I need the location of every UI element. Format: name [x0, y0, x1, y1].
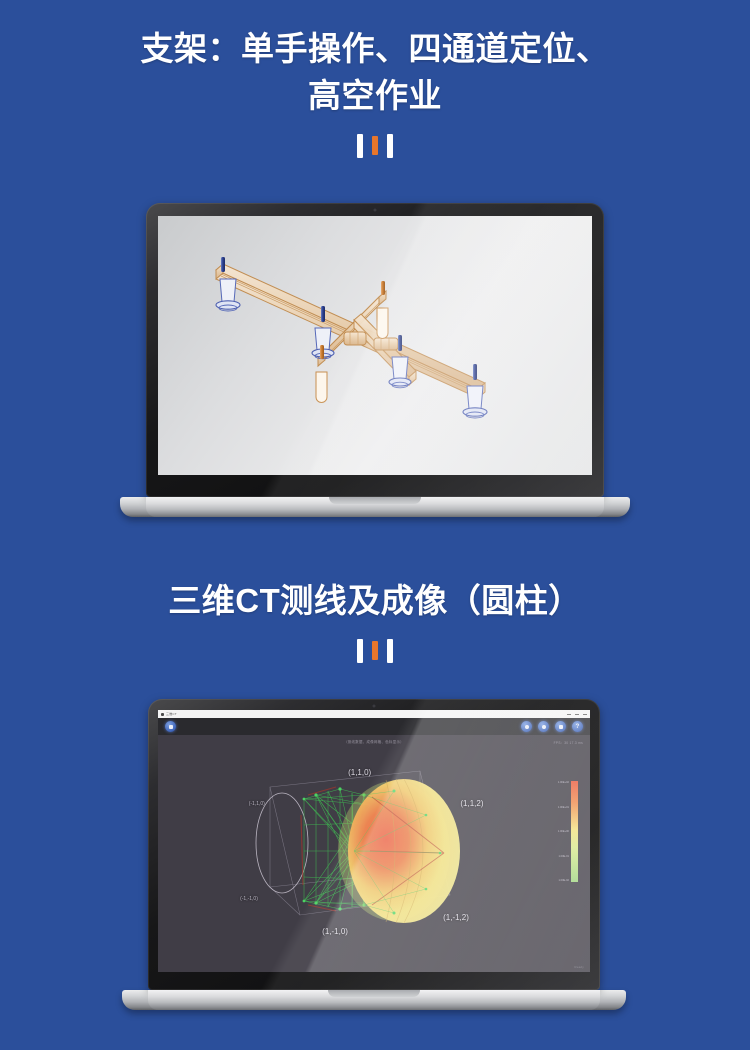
- colorbar-tick-2: 1.00E+01: [558, 806, 569, 809]
- coord-label-5: (-1,1,0): [249, 801, 265, 807]
- colorbar-ticks: 1.00E+02 1.00E+01 1.00E+00 1.00E-01 1.00…: [558, 781, 569, 882]
- minimize-icon[interactable]: [567, 714, 571, 715]
- divider-bar-right-2: [387, 639, 393, 663]
- divider-bracket: [0, 134, 750, 158]
- laptop-screen-2: 三维CT: [158, 710, 590, 972]
- app-toolbar: ?: [158, 718, 590, 735]
- refresh-icon-button[interactable]: [538, 721, 549, 732]
- colorbar-tick-5: 1.00E-02: [558, 879, 569, 882]
- app-name: 三维CT: [166, 712, 177, 716]
- laptop-base-1: [146, 497, 604, 517]
- webcam-icon-1: [373, 208, 377, 212]
- page-title-ct: 三维CT测线及成像（圆柱）: [0, 578, 750, 625]
- laptop-bracket: [146, 203, 604, 517]
- camera-icon-button[interactable]: [555, 721, 566, 732]
- divider-bar-left: [357, 134, 363, 158]
- transducer-5: [377, 281, 388, 339]
- ct-scene-svg: [158, 735, 590, 972]
- section-bracket: 支架：单手操作、四通道定位、 高空作业: [0, 26, 750, 158]
- page-title-bracket: 支架：单手操作、四通道定位、 高空作业: [0, 26, 750, 120]
- help-icon-button[interactable]: ?: [572, 721, 583, 732]
- section-ct-imaging: 三维CT测线及成像（圆柱）: [0, 578, 750, 663]
- colorbar: 1.00E+02 1.00E+01 1.00E+00 1.00E-01 1.00…: [558, 781, 578, 882]
- maximize-icon[interactable]: [575, 714, 579, 715]
- ct-3d-viewport[interactable]: （测线数据、成像网格、色标显示） FPS：30 17.3 ms: [158, 735, 590, 972]
- divider-ct: [0, 639, 750, 663]
- coord-label-6: (-1,-1,0): [240, 896, 258, 902]
- gear-icon: [525, 725, 529, 729]
- bracket-wireframe-svg: [158, 216, 592, 475]
- stop-icon-button[interactable]: [165, 721, 176, 732]
- colorbar-tick-3: 1.00E+00: [558, 830, 569, 833]
- gear-icon-button[interactable]: [521, 721, 532, 732]
- divider-bar-left-2: [357, 639, 363, 663]
- laptop-notch-2: [328, 990, 420, 997]
- laptop-ct: 三维CT: [148, 699, 600, 1010]
- titlebar-left: 三维CT: [161, 712, 177, 716]
- cad-drawing-canvas: [158, 216, 592, 475]
- laptop-screen-1: [158, 216, 592, 475]
- status-text: Ready: [574, 965, 584, 969]
- laptop-base-2: [148, 990, 600, 1010]
- colorbar-tick-4: 1.00E-01: [558, 855, 569, 858]
- coord-label-3: (1,-1,0): [322, 927, 348, 936]
- divider-bar-right: [387, 134, 393, 158]
- refresh-icon: [542, 725, 546, 729]
- help-icon: ?: [576, 724, 580, 730]
- window-titlebar: 三维CT: [158, 710, 590, 718]
- colorbar-tick-1: 1.00E+02: [558, 781, 569, 784]
- camera-icon: [559, 725, 563, 729]
- divider-bar-accent-2: [372, 641, 378, 660]
- webcam-icon-2: [372, 704, 376, 708]
- title-line-1: 支架：单手操作、四通道定位、: [0, 26, 750, 73]
- toolbar-right-group: ?: [521, 721, 583, 732]
- ct-software-window: 三维CT: [158, 710, 590, 972]
- divider-bar-accent: [372, 136, 378, 155]
- coord-label-4: (1,-1,2): [443, 913, 469, 922]
- coord-label-2: (1,1,2): [460, 799, 483, 808]
- title-line-ct: 三维CT测线及成像（圆柱）: [0, 578, 750, 625]
- stop-icon: [169, 725, 173, 729]
- title-line-2: 高空作业: [0, 73, 750, 120]
- laptop-notch-1: [329, 497, 421, 504]
- colorbar-gradient: [571, 781, 578, 882]
- app-logo-icon: [161, 713, 164, 716]
- close-icon[interactable]: [583, 714, 587, 715]
- coord-label-1: (1,1,0): [348, 768, 371, 777]
- laptop-lid-1: [146, 203, 604, 497]
- window-controls[interactable]: [567, 714, 587, 715]
- laptop-lid-2: 三维CT: [148, 699, 600, 990]
